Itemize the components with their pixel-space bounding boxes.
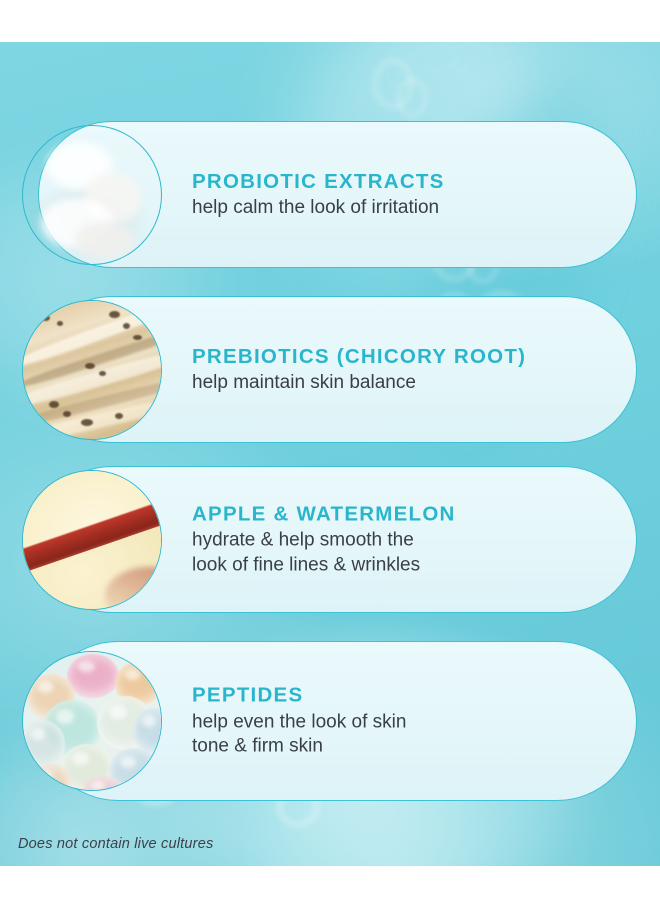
card-title: PROBIOTIC EXTRACTS [192, 168, 612, 194]
card-description-line: help maintain skin balance [192, 371, 612, 396]
card-description-line: tone & firm skin [192, 735, 612, 760]
cream-texture [23, 126, 161, 264]
soil-speck [85, 363, 95, 369]
soil-speck [115, 413, 123, 419]
card-description: help maintain skin balance [192, 371, 612, 396]
soil-speck [63, 411, 71, 417]
card-description-line: help calm the look of irritation [192, 196, 612, 221]
gel-bead [67, 654, 119, 698]
soil-speck [123, 323, 130, 329]
card-description: help calm the look of irritation [192, 196, 612, 221]
card-title: PEPTIDES [192, 683, 612, 709]
soil-speck [99, 371, 106, 376]
card-text-block: PEPTIDES help even the look of skin tone… [192, 683, 612, 760]
soil-speck [57, 321, 63, 326]
cream-swirl-image [22, 125, 162, 265]
card-text-block: PREBIOTICS (CHICORY ROOT) help maintain … [192, 343, 612, 395]
ingredient-card-list: PROBIOTIC EXTRACTS help calm the look of… [0, 0, 660, 904]
card-text-block: APPLE & WATERMELON hydrate & help smooth… [192, 501, 612, 578]
card-description-line: hydrate & help smooth the [192, 529, 612, 554]
soil-speck [81, 419, 93, 426]
card-title: PREBIOTICS (CHICORY ROOT) [192, 343, 612, 369]
gel-beads-texture [23, 652, 161, 790]
soil-speck [41, 315, 50, 321]
gel-beads-image [22, 651, 162, 791]
card-description: hydrate & help smooth the look of fine l… [192, 529, 612, 578]
apple-slice-image [22, 470, 162, 610]
chicory-root-texture [23, 301, 161, 439]
chicory-root-image [22, 300, 162, 440]
soil-speck [109, 311, 120, 318]
soil-speck [49, 401, 59, 408]
card-text-block: PROBIOTIC EXTRACTS help calm the look of… [192, 168, 612, 220]
card-description: help even the look of skin tone & firm s… [192, 710, 612, 759]
card-description-line: help even the look of skin [192, 710, 612, 735]
soil-speck [133, 335, 142, 340]
footnote-disclaimer: Does not contain live cultures [18, 836, 213, 852]
card-description-line: look of fine lines & wrinkles [192, 553, 612, 578]
bottom-white-band [0, 866, 660, 904]
top-white-band [0, 0, 660, 42]
card-title: APPLE & WATERMELON [192, 501, 612, 527]
cream-swirl-lobe [75, 222, 135, 260]
infographic-page: PROBIOTIC EXTRACTS help calm the look of… [0, 0, 660, 904]
gel-bead [22, 720, 65, 768]
apple-texture [23, 471, 161, 609]
